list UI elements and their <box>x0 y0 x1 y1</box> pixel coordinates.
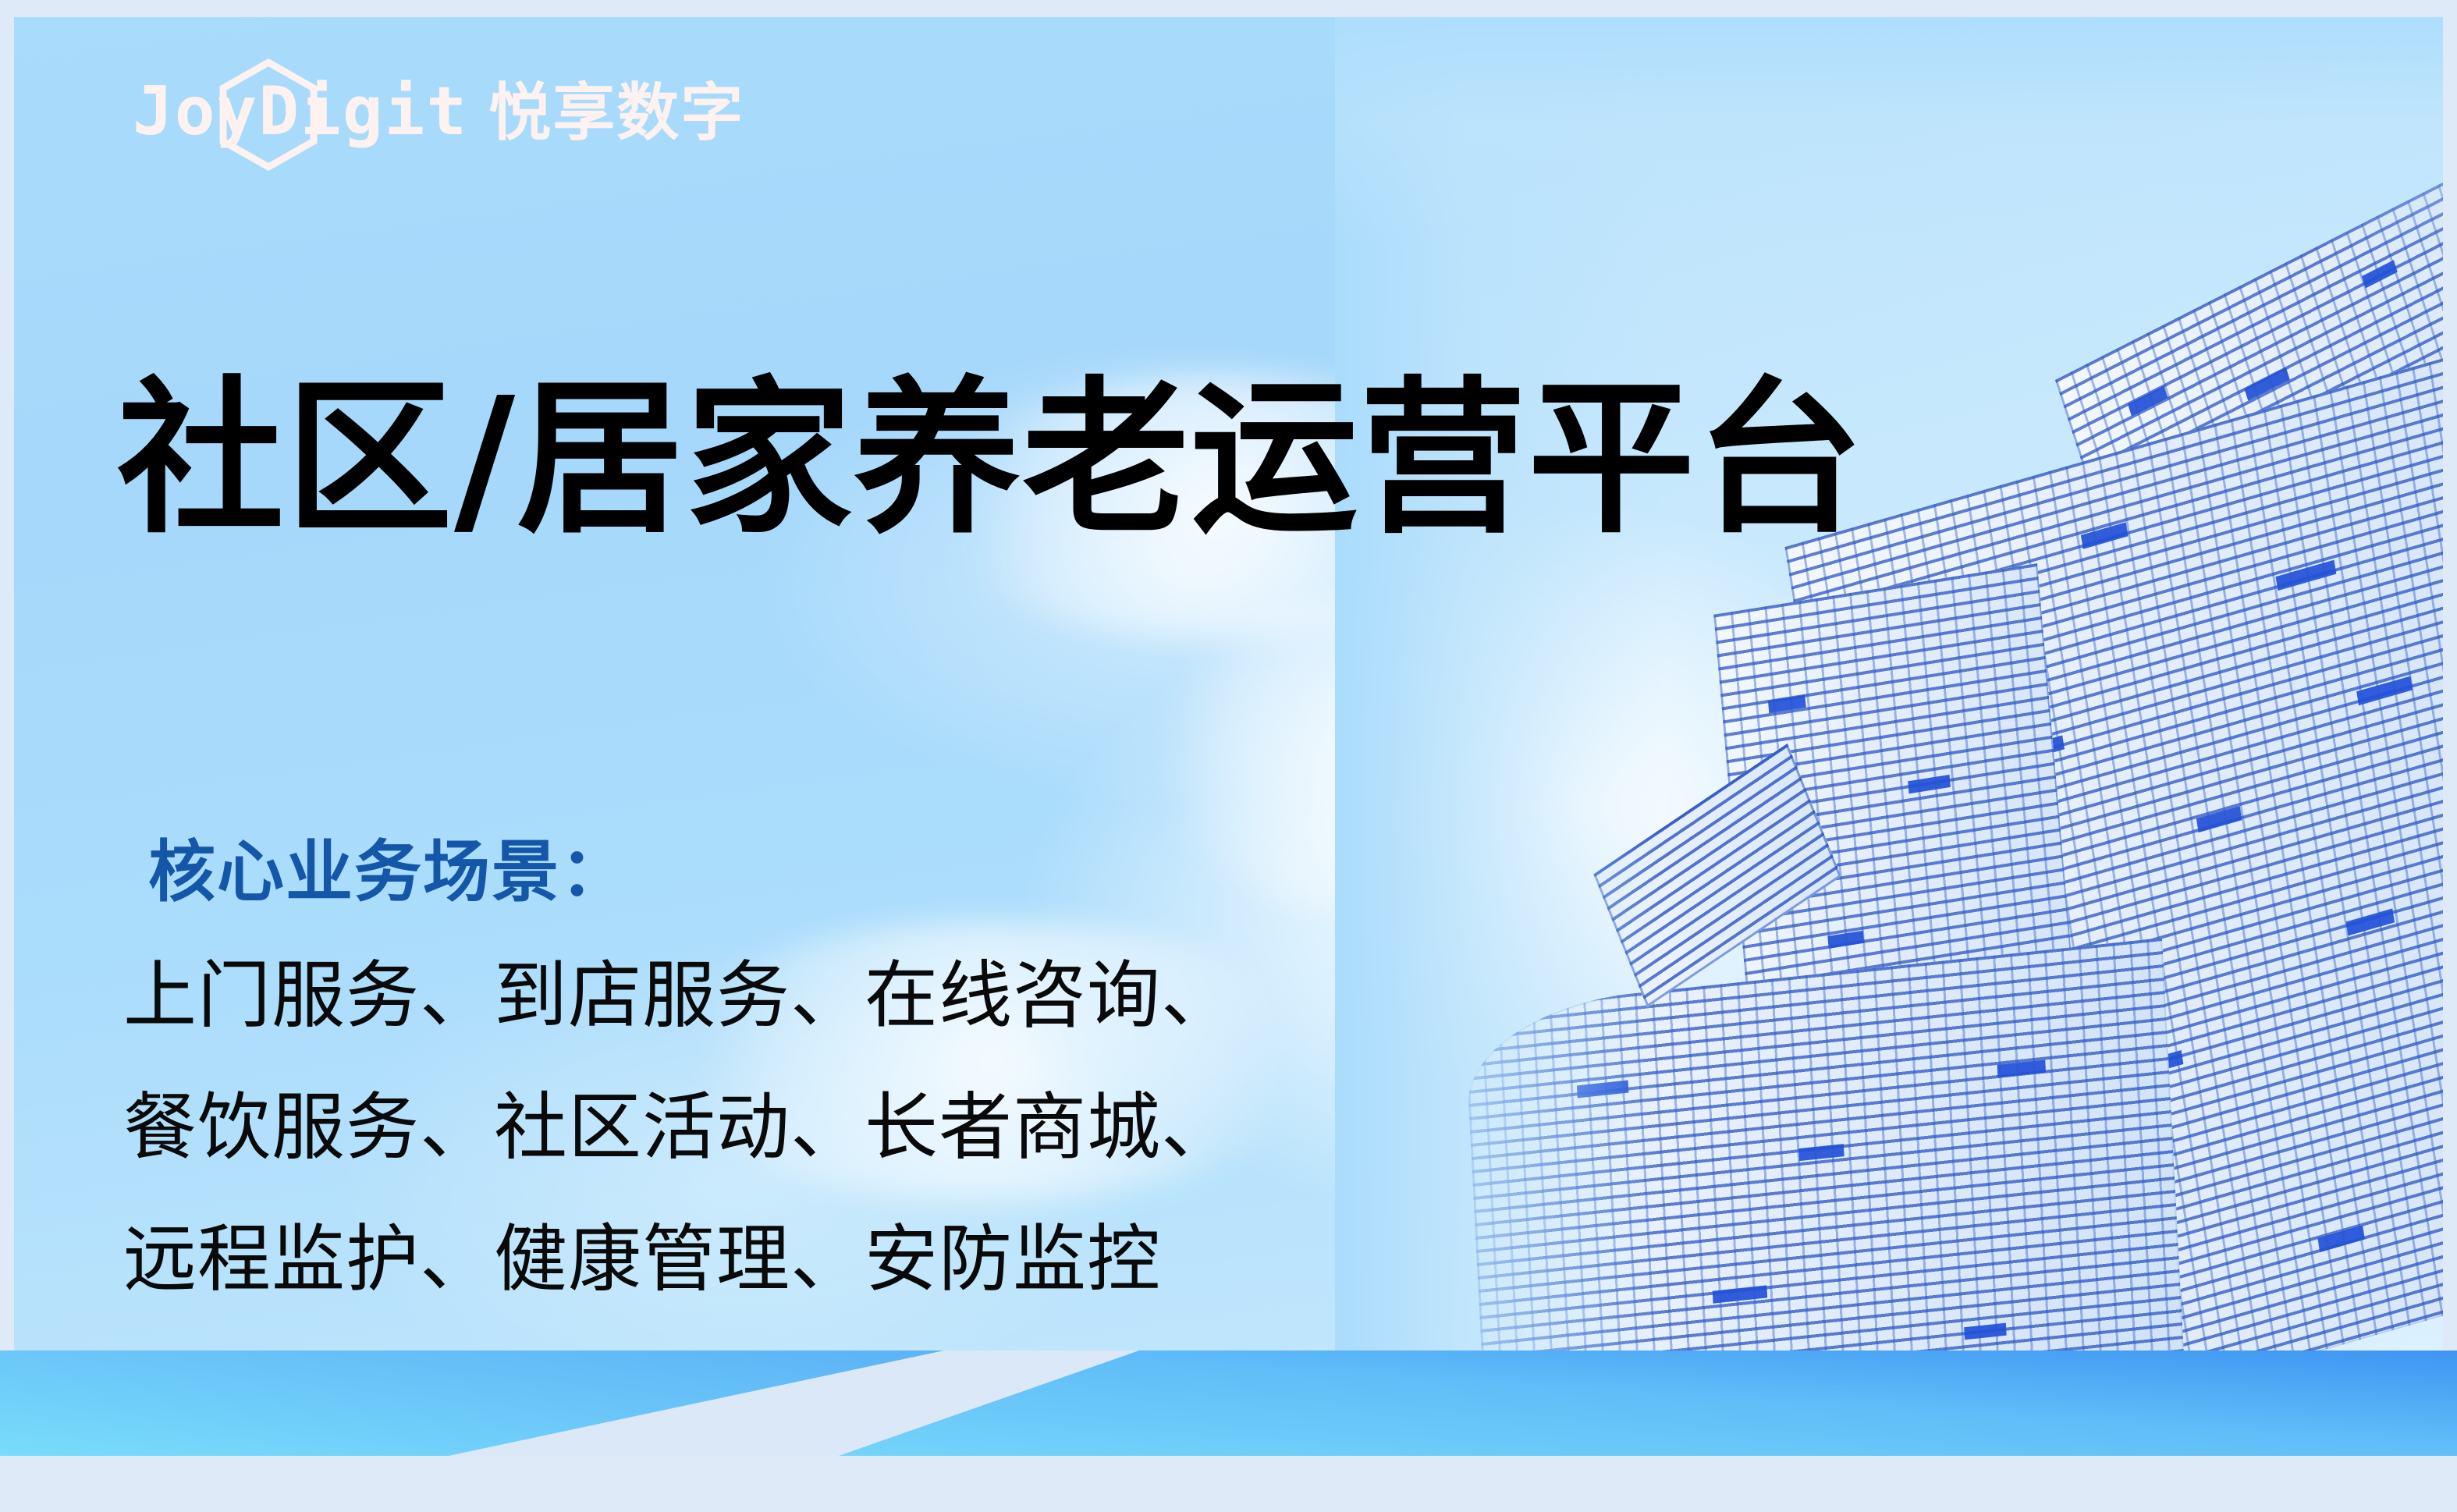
bottom-ribbon <box>0 1351 2457 1456</box>
frame-bottom <box>0 1456 2457 1512</box>
skyscraper-photo <box>1335 17 2443 1378</box>
logo-chinese-text: 悦享数字 <box>488 82 744 144</box>
scenario-line: 餐饮服务、社区活动、长者商城、 <box>123 1062 1235 1194</box>
brand-logo[interactable]: JoyDigit 悦享数字 <box>133 61 744 162</box>
slide-canvas: JoyDigit 悦享数字 社区/居家养老运营平台 核心业务场景： 上门服务、到… <box>0 0 2457 1512</box>
frame-top <box>0 0 2457 17</box>
section-heading: 核心业务场景： <box>148 836 629 910</box>
frame-right <box>2443 0 2457 1512</box>
frame-left <box>0 0 14 1512</box>
scenario-line: 上门服务、到店服务、在线咨询、 <box>123 930 1235 1062</box>
scenario-list: 上门服务、到店服务、在线咨询、 餐饮服务、社区活动、长者商城、 远程监护、健康管… <box>123 930 1235 1326</box>
logo-latin-text: JoyDigit <box>133 78 468 145</box>
scenario-line: 远程监护、健康管理、安防监控 <box>123 1194 1235 1326</box>
page-title: 社区/居家养老运营平台 <box>117 369 1865 549</box>
photo-top-fade <box>1335 17 2443 251</box>
logo-wordmark: JoyDigit 悦享数字 <box>133 78 744 145</box>
